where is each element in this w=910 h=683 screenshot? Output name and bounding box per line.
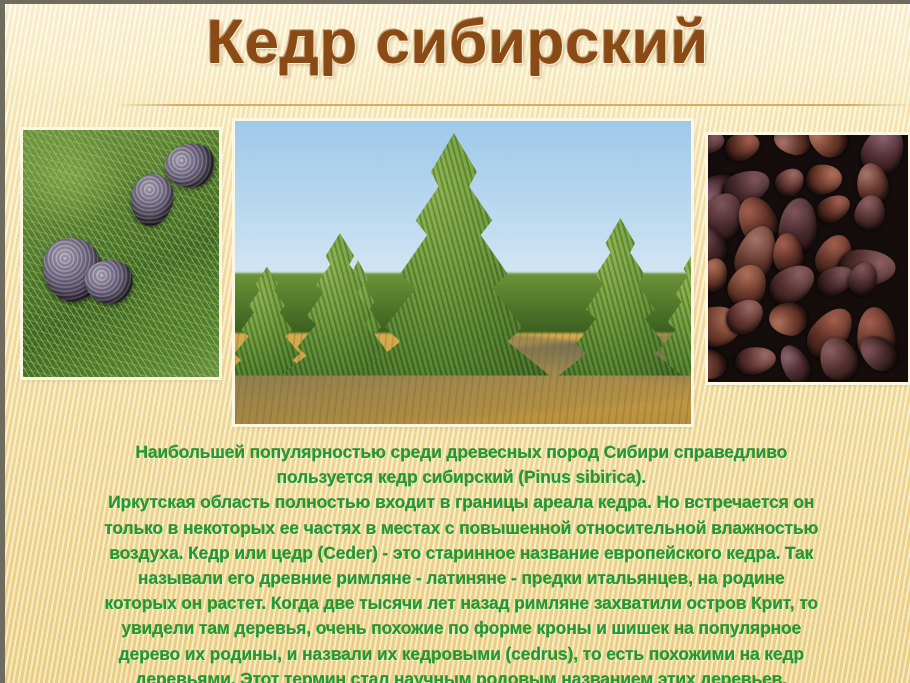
image-pine-branch-with-cones (23, 130, 219, 377)
title-divider-rule (113, 104, 910, 106)
body-line: Наибольшей популярностью среди древесных… (31, 440, 892, 465)
cedar-grove-illustration (235, 121, 691, 424)
body-line: которых он растет. Когда две тысячи лет … (31, 591, 892, 616)
body-line: деревьями. Этот термин стал научным родо… (31, 667, 892, 683)
pine-branch-illustration (23, 130, 219, 377)
slide-body-text: Наибольшей популярностью среди древесных… (31, 440, 892, 683)
body-line: воздуха. Кедр или цедр (Ceder) - это ста… (31, 541, 892, 566)
body-line: увидели там деревья, очень похожие по фо… (31, 616, 892, 641)
body-line: Иркутская область полностью входит в гра… (31, 490, 892, 515)
body-line: дерево их родины, и назвали их кедровыми… (31, 642, 892, 667)
body-line: только в некоторых ее частях в местах с … (31, 516, 892, 541)
body-line: называли его древние римляне - латиняне … (31, 566, 892, 591)
presentation-slide: Кедр сибирский (0, 0, 910, 683)
cedar-nuts-illustration (708, 135, 908, 382)
slide-title-container: Кедр сибирский (5, 10, 910, 75)
image-cedar-nuts (708, 135, 908, 382)
body-line: пользуется кедр сибирский (Pinus sibiric… (31, 465, 892, 490)
slide-title: Кедр сибирский (206, 10, 708, 75)
image-cedar-grove (235, 121, 691, 424)
